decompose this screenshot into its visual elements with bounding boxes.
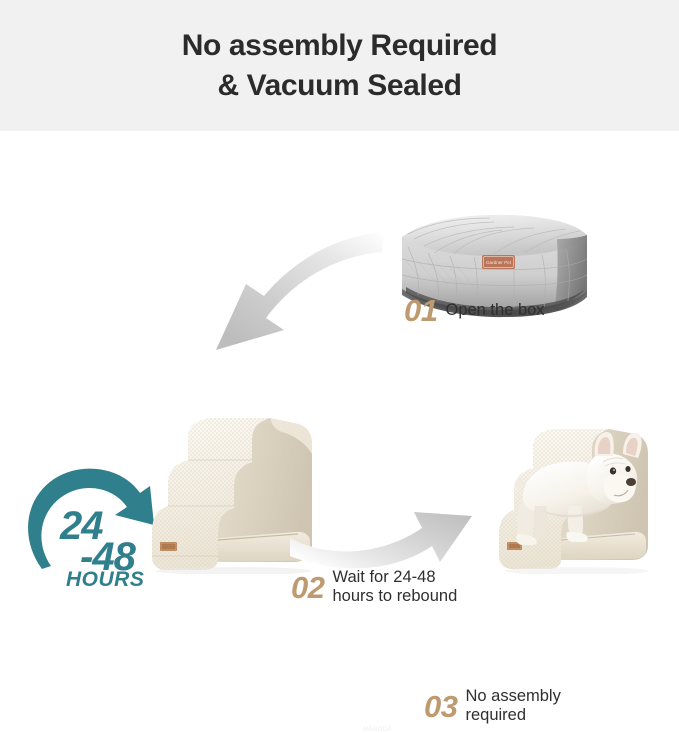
- step-02: 02 Wait for 24-48 hours to rebound: [291, 568, 457, 607]
- arrow-stairs-to-dog: [288, 476, 478, 571]
- infographic-stage: Gardner Pet 24 -48 HOURS: [0, 131, 679, 608]
- package-brand-label-text: Gardner Pet: [486, 260, 512, 265]
- step-02-text: Wait for 24-48 hours to rebound: [332, 568, 457, 607]
- arrow-box-to-stairs: [186, 226, 386, 356]
- header-banner: No assembly Required & Vacuum Sealed: [0, 0, 679, 131]
- foam-stairs-brand-tag: [160, 542, 177, 551]
- step-01: 01 Open the box: [404, 295, 545, 326]
- step-03: 03 No assembly required: [424, 687, 561, 726]
- step-03-number: 03: [424, 691, 457, 722]
- step-02-number: 02: [291, 572, 324, 603]
- step-03-text: No assembly required: [465, 687, 560, 726]
- package-brand-label: Gardner Pet: [482, 255, 515, 269]
- step-01-number: 01: [404, 295, 437, 326]
- headline-line-2: & Vacuum Sealed: [217, 66, 461, 106]
- watermark: MAGGDA: [363, 727, 392, 733]
- step-01-text: Open the box: [445, 301, 544, 320]
- badge-line-hours: HOURS: [66, 569, 144, 590]
- headline-line-1: No assembly Required: [182, 26, 497, 66]
- dog-on-pet-stairs-image: [495, 414, 673, 574]
